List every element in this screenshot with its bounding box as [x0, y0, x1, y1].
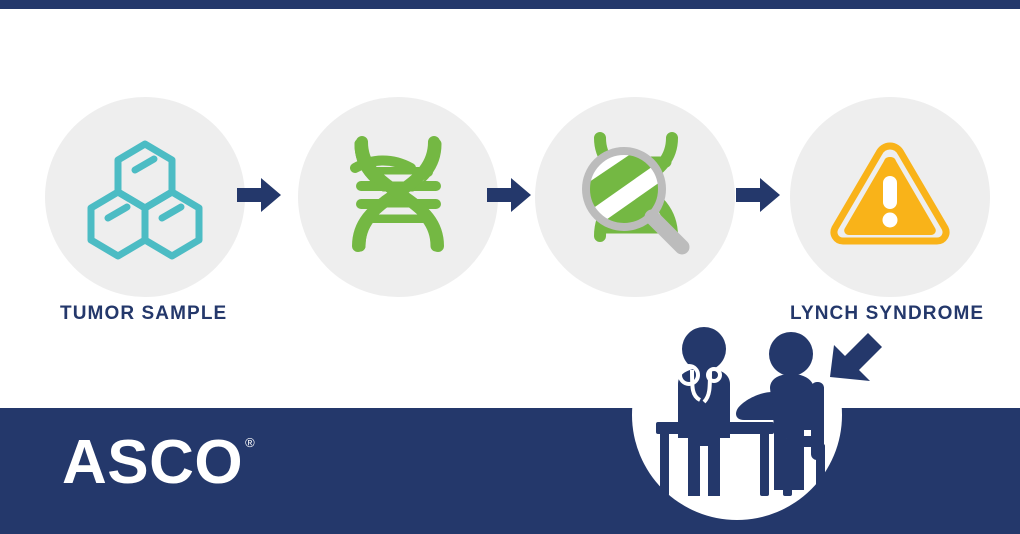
process-flow: [0, 97, 1020, 297]
dna-magnifier-icon: [560, 120, 710, 275]
warning-triangle-icon: [830, 140, 950, 255]
flow-arrow-3: [736, 175, 780, 215]
infographic-canvas: TUMOR SAMPLE LYNCH SYNDROME: [0, 0, 1020, 534]
flow-arrow-2: [487, 175, 531, 215]
asco-wordmark: ASCO: [62, 432, 243, 494]
molecule-hexagons-icon: [80, 130, 210, 265]
dna-helix-icon: [333, 130, 463, 265]
step-circle-dna: [298, 97, 498, 297]
asco-logo: ASCO ®: [62, 432, 255, 494]
doctor-patient-icon: [648, 326, 838, 501]
arrow-down-left-icon: [828, 331, 886, 387]
step-circle-tumor-sample: [45, 97, 245, 297]
step-label-tumor-sample: TUMOR SAMPLE: [60, 303, 227, 325]
registered-trademark-icon: ®: [245, 436, 255, 449]
step-circle-lynch-syndrome: [790, 97, 990, 297]
top-navy-rule: [0, 0, 1020, 9]
flow-arrow-1: [237, 175, 281, 215]
step-label-lynch-syndrome: LYNCH SYNDROME: [790, 303, 984, 325]
step-circle-dna-analysis: [535, 97, 735, 297]
